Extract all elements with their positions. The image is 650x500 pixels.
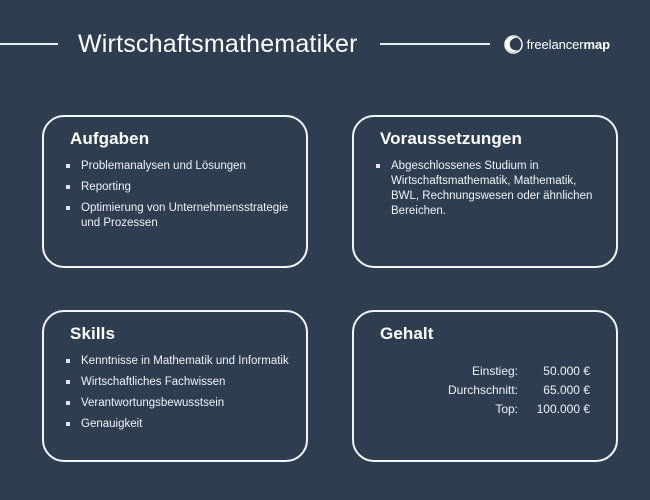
table-row: Einstieg: 50.000 € [448, 362, 590, 381]
card-title-gehalt: Gehalt [380, 324, 434, 344]
card-body-skills: Kenntnisse in Mathematik und Informatik … [64, 354, 292, 438]
page-title: Wirtschaftsmathematiker [78, 30, 358, 59]
card-body-aufgaben: Problemanalysen und Lösungen Reporting O… [64, 159, 292, 237]
aufgaben-list: Problemanalysen und Lösungen Reporting O… [64, 159, 292, 231]
divider-line-middle-icon [380, 43, 490, 45]
card-title-voraussetzungen: Voraussetzungen [380, 129, 522, 149]
brand-wordmark: freelancermap [527, 38, 610, 51]
brand-name-bold: map [583, 37, 609, 52]
brand-logo[interactable]: freelancermap [504, 35, 610, 54]
list-item: Reporting [64, 180, 292, 195]
card-body-voraussetzungen: Abgeschlossenes Studium in Wirtschaftsma… [374, 159, 602, 225]
list-item: Kenntnisse in Mathematik und Informatik [64, 354, 292, 369]
card-aufgaben: Aufgaben Problemanalysen und Lösungen Re… [42, 115, 308, 268]
card-title-skills: Skills [70, 324, 115, 344]
divider-line-left-icon [0, 43, 58, 45]
list-item: Abgeschlossenes Studium in Wirtschaftsma… [374, 159, 602, 219]
salary-section: Einstieg: 50.000 € Durchschnitt: 65.000 … [374, 362, 596, 419]
salary-label-top: Top: [448, 400, 518, 419]
salary-value-top: 100.000 € [518, 400, 590, 419]
card-skills: Skills Kenntnisse in Mathematik und Info… [42, 310, 308, 462]
salary-table: Einstieg: 50.000 € Durchschnitt: 65.000 … [448, 362, 590, 419]
salary-value-einstieg: 50.000 € [518, 362, 590, 381]
salary-label-einstieg: Einstieg: [448, 362, 518, 381]
card-voraussetzungen: Voraussetzungen Abgeschlossenes Studium … [352, 115, 618, 268]
salary-label-durchschnitt: Durchschnitt: [448, 381, 518, 400]
page-header: Wirtschaftsmathematiker freelancermap [0, 22, 650, 66]
card-title-aufgaben: Aufgaben [70, 129, 149, 149]
voraussetzungen-list: Abgeschlossenes Studium in Wirtschaftsma… [374, 159, 602, 219]
brand-name-light: freelancer [527, 37, 584, 52]
list-item: Optimierung von Unternehmensstrategie un… [64, 201, 292, 231]
list-item: Wirtschaftliches Fachwissen [64, 375, 292, 390]
card-gehalt: Gehalt Einstieg: 50.000 € Durchschnitt: … [352, 310, 618, 462]
table-row: Durchschnitt: 65.000 € [448, 381, 590, 400]
skills-list: Kenntnisse in Mathematik und Informatik … [64, 354, 292, 432]
list-item: Genauigkeit [64, 417, 292, 432]
freelancermap-circle-logo-icon [504, 35, 523, 54]
salary-value-durchschnitt: 65.000 € [518, 381, 590, 400]
list-item: Problemanalysen und Lösungen [64, 159, 292, 174]
list-item: Verantwortungsbewusstsein [64, 396, 292, 411]
table-row: Top: 100.000 € [448, 400, 590, 419]
